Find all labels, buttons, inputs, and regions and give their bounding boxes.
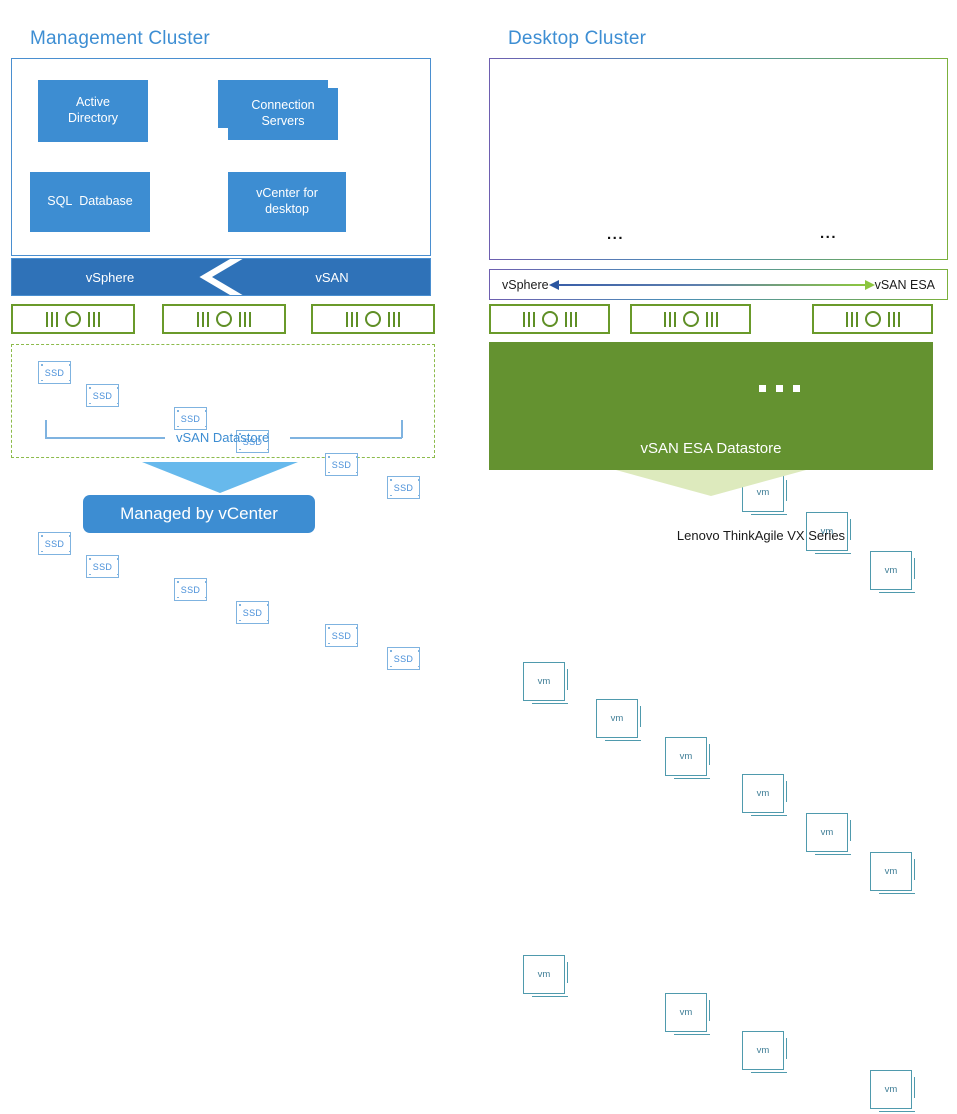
disk-bars-icon: [888, 312, 900, 327]
desktop-platform-bar: vSphere vSAN ESA: [489, 269, 948, 300]
disk-bars-icon: [388, 312, 400, 327]
disk-bars-icon: [88, 312, 100, 327]
host-circle-icon: [683, 311, 699, 327]
vm-label: vm: [680, 1007, 693, 1018]
ssd-icon: SSD: [325, 453, 358, 476]
host-circle-icon: [216, 311, 232, 327]
vm-label: vm: [611, 713, 624, 724]
desktop-cluster-title: Desktop Cluster: [508, 28, 646, 50]
datastore-bracket-right-arm: [290, 437, 402, 439]
ssd-icon: SSD: [174, 407, 207, 430]
management-cluster-title: Management Cluster: [30, 28, 210, 50]
vm-icon[interactable]: vm: [870, 1070, 912, 1109]
vm-label: vm: [538, 676, 551, 687]
managed-by-arrow-icon: [130, 462, 310, 494]
host-circle-icon: [365, 311, 381, 327]
disk-bars-icon: [46, 312, 58, 327]
diagram-canvas: Management Cluster ActiveDirectory Conne…: [0, 0, 957, 557]
ssd-icon: SSD: [86, 555, 119, 578]
vm-icon[interactable]: vm: [523, 955, 565, 994]
component-connection-servers[interactable]: ConnectionServers: [228, 88, 338, 140]
datastore-bracket-left-arm: [45, 437, 165, 439]
host-row-ellipsis: [760, 315, 801, 322]
managed-by-vcenter-badge[interactable]: Managed by vCenter: [83, 495, 315, 533]
host-icon-3[interactable]: [311, 304, 435, 334]
vm-icon[interactable]: vm: [742, 1031, 784, 1070]
ssd-icon: SSD: [387, 647, 420, 670]
ssd-icon: SSD: [325, 624, 358, 647]
component-label: SQL Database: [47, 194, 132, 210]
ssd-icon: SSD: [236, 601, 269, 624]
vm-label: vm: [821, 827, 834, 838]
tier-row-ellipsis: [759, 385, 800, 392]
disk-bars-icon: [239, 312, 251, 327]
ssd-icon: SSD: [38, 532, 71, 555]
vm-icon[interactable]: vm: [596, 699, 638, 738]
disk-bars-icon: [565, 312, 577, 327]
datastore-to-server-funnel: [616, 470, 806, 496]
host-circle-icon: [865, 311, 881, 327]
datastore-bracket-right-stem: [401, 420, 403, 438]
platform-vsphere-label: vSphere: [502, 278, 549, 292]
disk-bars-icon: [706, 312, 718, 327]
host-icon-3[interactable]: [812, 304, 933, 334]
component-label: ActiveDirectory: [68, 95, 118, 126]
host-circle-icon: [542, 311, 558, 327]
disk-bars-icon: [346, 312, 358, 327]
datastore-bracket-left-stem: [45, 420, 47, 438]
ssd-icon: SSD: [387, 476, 420, 499]
management-platform-bar: vSphere vSAN: [11, 258, 431, 296]
ssd-icon: SSD: [38, 361, 71, 384]
platform-vsan-label: vSAN: [315, 270, 348, 285]
host-icon-2[interactable]: [630, 304, 751, 334]
host-icon-1[interactable]: [489, 304, 610, 334]
component-vcenter-for-desktop[interactable]: vCenter fordesktop: [228, 172, 346, 232]
vsan-datastore-label: vSAN Datastore: [176, 430, 269, 445]
vm-label: vm: [680, 751, 693, 762]
vm-icon[interactable]: vm: [806, 813, 848, 852]
platform-vsphere-label: vSphere: [86, 270, 134, 285]
platform-vsan-esa-label: vSAN ESA: [875, 278, 935, 292]
desktop-cluster-box: [489, 58, 948, 260]
vm-icon[interactable]: vm: [742, 774, 784, 813]
platform-vsphere[interactable]: vSphere: [12, 259, 230, 295]
vm-label: vm: [885, 1084, 898, 1095]
vm-row-ellipsis: ...: [607, 227, 624, 242]
component-label: vCenter fordesktop: [256, 186, 318, 217]
disk-bars-icon: [523, 312, 535, 327]
ssd-icon: SSD: [86, 384, 119, 407]
bidirectional-arrow-icon: [549, 279, 875, 291]
vm-label: vm: [885, 565, 898, 576]
component-active-directory[interactable]: ActiveDirectory: [38, 80, 148, 142]
server-caption: Lenovo ThinkAgile VX Series: [567, 528, 955, 543]
vm-icon[interactable]: vm: [665, 993, 707, 1032]
disk-bars-icon: [664, 312, 676, 327]
component-label: ConnectionServers: [251, 98, 314, 129]
disk-bars-icon: [197, 312, 209, 327]
vm-label: vm: [757, 1045, 770, 1056]
vm-icon[interactable]: vm: [523, 662, 565, 701]
disk-bars-icon: [846, 312, 858, 327]
vm-label: vm: [538, 969, 551, 980]
vm-row-ellipsis: ...: [820, 226, 837, 241]
vsan-esa-datastore-label: vSAN ESA Datastore: [489, 440, 933, 457]
ssd-icon: SSD: [174, 578, 207, 601]
component-sql-database[interactable]: SQL Database: [30, 172, 150, 232]
host-icon-1[interactable]: [11, 304, 135, 334]
platform-vsan[interactable]: vSAN: [212, 259, 430, 295]
vm-icon[interactable]: vm: [665, 737, 707, 776]
vm-icon[interactable]: vm: [870, 852, 912, 891]
vm-label: vm: [885, 866, 898, 877]
host-icon-2[interactable]: [162, 304, 286, 334]
host-circle-icon: [65, 311, 81, 327]
vm-label: vm: [757, 788, 770, 799]
